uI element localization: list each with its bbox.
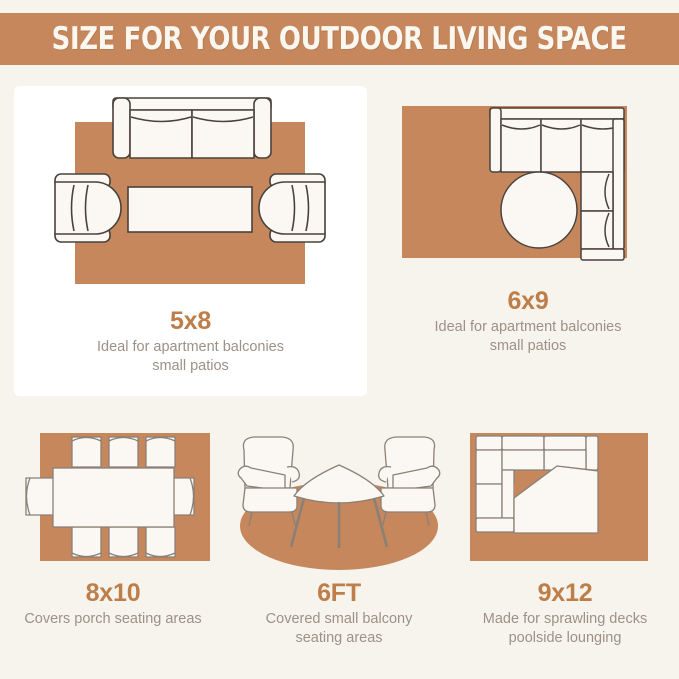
caption-8x10: 8x10 Covers porch seating areas: [0, 580, 226, 629]
page-title: SIZE FOR YOUR OUTDOOR LIVING SPACE: [52, 21, 627, 57]
size-desc-6x9-line1: Ideal for apartment balconies: [388, 318, 668, 337]
size-desc-5x8-line2: small patios: [14, 357, 367, 376]
size-desc-6ft-line2: seating areas: [226, 629, 452, 648]
size-desc-6x9-line2: small patios: [388, 337, 668, 356]
size-label-8x10: 8x10: [0, 580, 226, 606]
caption-6x9: 6x9 Ideal for apartment balconies small …: [388, 288, 668, 356]
top-row: 5x8 Ideal for apartment balconies small …: [0, 72, 679, 412]
size-desc-8x10-line1: Covers porch seating areas: [0, 610, 226, 629]
bottom-row: 8x10 Covers porch seating areas: [0, 412, 679, 679]
caption-9x12: 9x12 Made for sprawling decks poolside l…: [452, 580, 678, 648]
panel-6x9[interactable]: 6x9 Ideal for apartment balconies small …: [388, 100, 668, 400]
panel-5x8[interactable]: 5x8 Ideal for apartment balconies small …: [14, 86, 367, 396]
panel-9x12[interactable]: 9x12 Made for sprawling decks poolside l…: [452, 420, 678, 675]
caption-5x8: 5x8 Ideal for apartment balconies small …: [14, 308, 367, 376]
panel-8x10[interactable]: 8x10 Covers porch seating areas: [0, 420, 226, 675]
size-label-5x8: 5x8: [14, 308, 367, 334]
diagram-9x12: [462, 426, 662, 571]
round-table-6x9: [501, 172, 577, 248]
diagram-6x9: [402, 100, 654, 280]
panel-6ft[interactable]: 6FT Covered small balcony seating areas: [226, 420, 452, 675]
size-label-9x12: 9x12: [452, 580, 678, 606]
coffee-table-5x8: [128, 187, 252, 232]
diagram-8x10: [16, 426, 212, 571]
header-banner: SIZE FOR YOUR OUTDOOR LIVING SPACE: [0, 13, 679, 65]
size-desc-6ft-line1: Covered small balcony: [226, 610, 452, 629]
sofa-5x8: [113, 98, 271, 158]
size-desc-9x12-line2: poolside lounging: [452, 629, 678, 648]
diagram-5x8: [14, 86, 367, 306]
diagram-6ft: [232, 426, 446, 571]
dining-table-8x10: [53, 468, 174, 527]
size-label-6ft: 6FT: [226, 580, 452, 606]
size-desc-5x8-line1: Ideal for apartment balconies: [14, 338, 367, 357]
size-label-6x9: 6x9: [388, 288, 668, 314]
caption-6ft: 6FT Covered small balcony seating areas: [226, 580, 452, 648]
size-desc-9x12-line1: Made for sprawling decks: [452, 610, 678, 629]
